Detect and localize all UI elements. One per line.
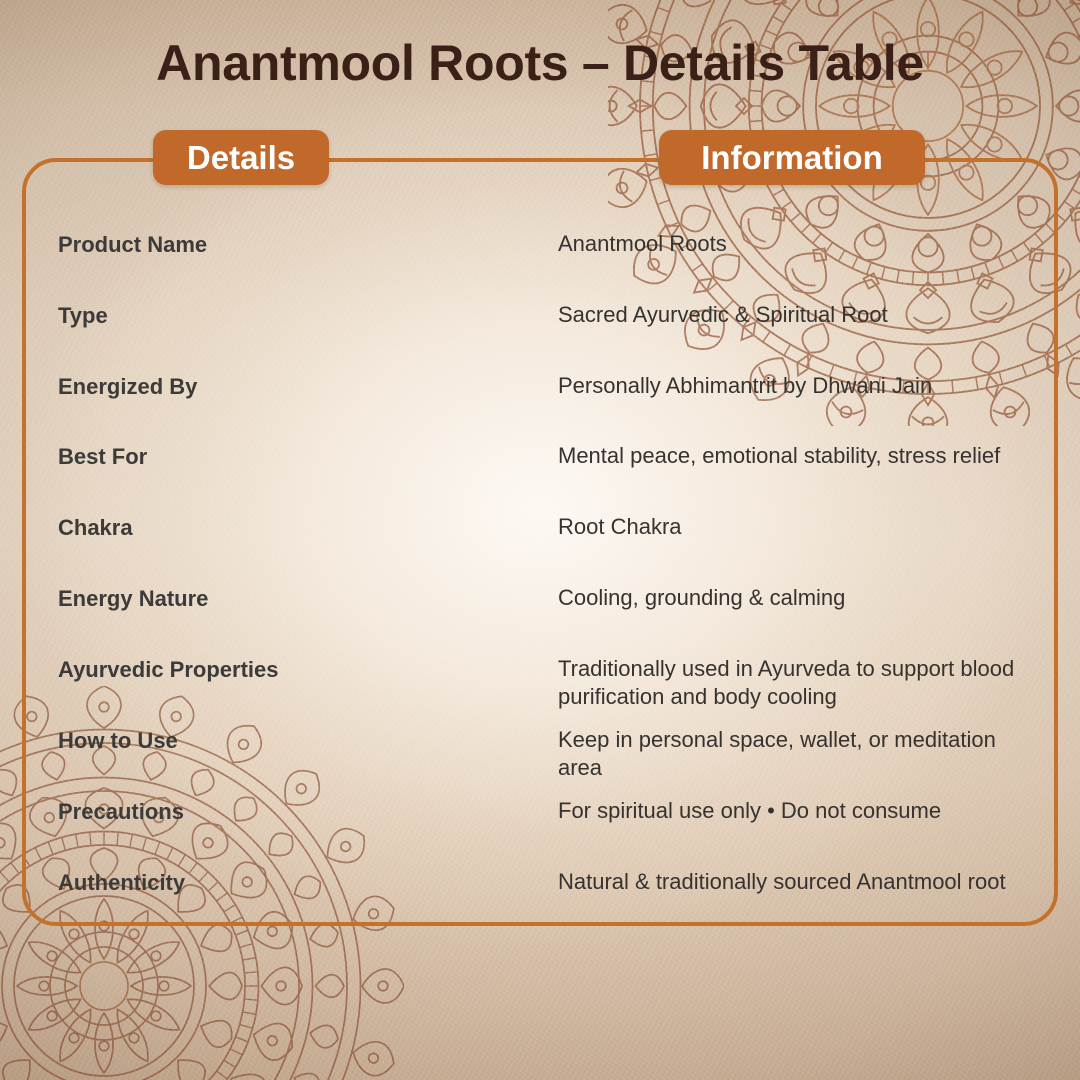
row-label: Product Name: [58, 230, 528, 259]
row-label: Chakra: [58, 513, 528, 542]
column-header-details: Details: [153, 130, 329, 185]
row-value: Natural & traditionally sourced Anantmoo…: [558, 868, 1036, 896]
row-value: Mental peace, emotional stability, stres…: [558, 442, 1036, 470]
page-title: Anantmool Roots – Details Table: [0, 34, 1080, 92]
row-label: Precautions: [58, 797, 528, 826]
row-label: How to Use: [58, 726, 528, 755]
row-label: Energy Nature: [58, 584, 528, 613]
row-label: Ayurvedic Properties: [58, 655, 528, 684]
row-value: Root Chakra: [558, 513, 1036, 541]
column-header-information: Information: [659, 130, 925, 185]
row-label: Authenticity: [58, 868, 528, 897]
row-value: For spiritual use only • Do not consume: [558, 797, 1036, 825]
row-value: Anantmool Roots: [558, 230, 1036, 258]
row-value: Traditionally used in Ayurveda to suppor…: [558, 655, 1036, 711]
row-label: Best For: [58, 442, 528, 471]
row-value: Keep in personal space, wallet, or medit…: [558, 726, 1036, 782]
row-value: Sacred Ayurvedic & Spiritual Root: [558, 301, 1036, 329]
poster-canvas: Anantmool Roots – Details Table Details …: [0, 0, 1080, 1080]
row-value: Cooling, grounding & calming: [558, 584, 1036, 612]
row-label: Type: [58, 301, 528, 330]
row-value: Personally Abhimantrit by Dhwani Jain: [558, 372, 1036, 400]
row-label: Energized By: [58, 372, 528, 401]
